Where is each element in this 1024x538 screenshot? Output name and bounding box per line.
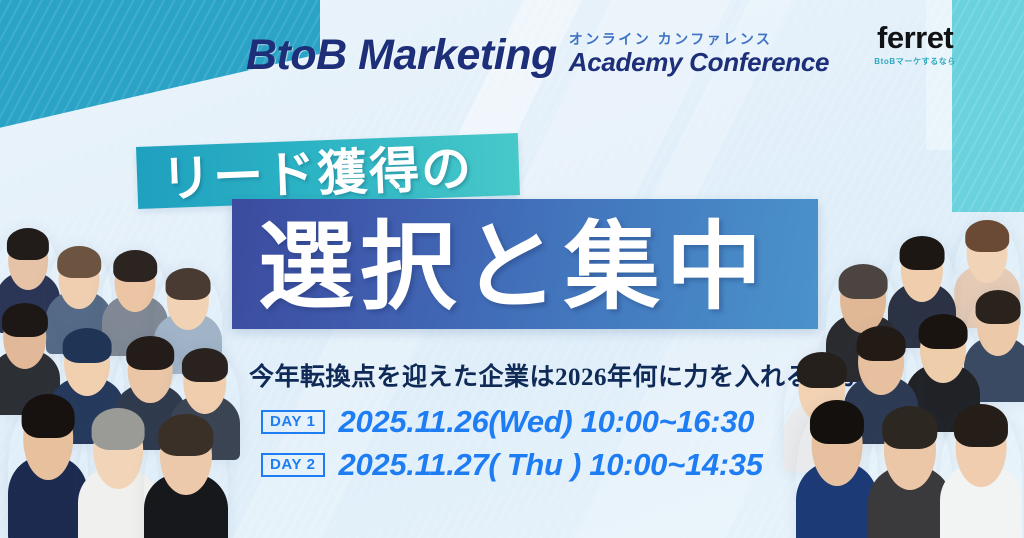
speaker-portrait-hair [810, 400, 864, 444]
day-datetime: 2025.11.26(Wed) 10:00~16:30 [339, 406, 755, 437]
speaker-photo-collage-right [778, 208, 1024, 538]
ferret-logo[interactable]: ferret BtoBマーケするなら [874, 22, 956, 67]
speaker-portrait-hair [900, 236, 945, 270]
speaker-portrait-hair [57, 246, 101, 278]
speaker-portrait-hair [22, 394, 75, 438]
day-badge: DAY 2 [261, 453, 325, 477]
speaker-photo-collage-left [0, 208, 246, 538]
speaker-portrait-hair [882, 406, 937, 449]
speaker-portrait-hair [158, 414, 213, 456]
speaker-portrait-hair [965, 220, 1009, 252]
event-title-main: BtoB Marketing [246, 34, 557, 77]
event-promo-banner: BtoB Marketing オンライン カンファレンス Academy Con… [0, 0, 1024, 538]
ferret-logo-wordmark: ferret [874, 22, 956, 53]
speaker-portrait [796, 400, 878, 538]
speaker-portrait-hair [126, 336, 174, 370]
speaker-portrait-hair [2, 303, 48, 337]
event-date-row: DAY 2 2025.11.27( Thu ) 10:00~14:35 [261, 443, 763, 486]
day-datetime: 2025.11.27( Thu ) 10:00~14:35 [339, 449, 763, 480]
speaker-portrait-hair [166, 268, 211, 300]
event-title-sub: Academy Conference [569, 49, 829, 75]
speaker-portrait-hair [976, 290, 1021, 324]
event-title-secondary-group: オンライン カンファレンス Academy Conference [569, 32, 829, 77]
speaker-portrait [940, 404, 1022, 538]
day-badge: DAY 1 [261, 410, 325, 434]
speaker-portrait-hair [857, 326, 906, 361]
speaker-portrait-hair [63, 328, 112, 363]
speaker-portrait-hair [797, 352, 847, 388]
headline-banner-blue: 選択と集中 [232, 199, 818, 329]
speaker-portrait-hair [182, 348, 228, 382]
headline-banner-blue-text: 選択と集中 [258, 189, 768, 328]
event-title-lockup: BtoB Marketing オンライン カンファレンス Academy Con… [246, 32, 829, 77]
speaker-portrait-hair [7, 228, 49, 260]
speaker-portrait-hair [839, 264, 888, 299]
speaker-portrait-hair [954, 404, 1008, 447]
speaker-portrait [8, 394, 88, 538]
event-tagline: 今年転換点を迎えた企業は2026年何に力を入れるのか [249, 357, 862, 393]
ferret-logo-tagline: BtoBマーケするなら [874, 56, 956, 67]
event-date-list: DAY 1 2025.11.26(Wed) 10:00~16:30 DAY 2 … [261, 400, 763, 486]
speaker-portrait-hair [92, 408, 145, 450]
event-date-row: DAY 1 2025.11.26(Wed) 10:00~16:30 [261, 400, 763, 443]
speaker-portrait-hair [919, 314, 968, 349]
speaker-portrait-hair [113, 250, 157, 282]
event-title-kana: オンライン カンファレンス [569, 32, 829, 46]
